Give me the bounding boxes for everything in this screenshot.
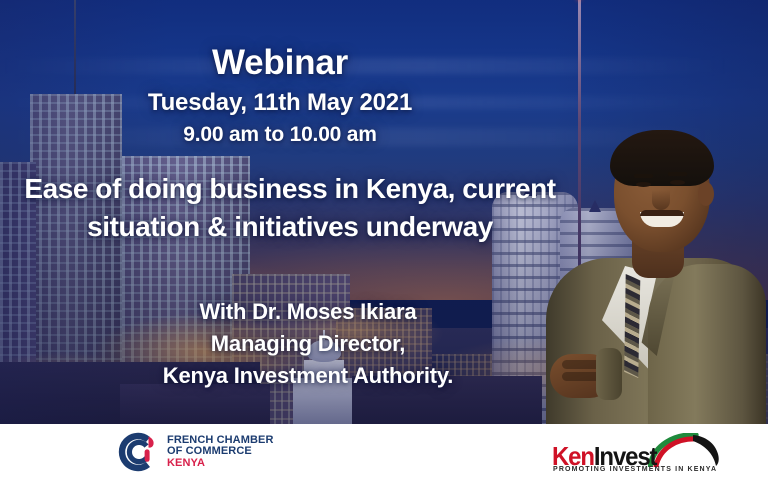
kenyan-flag-swoosh-icon bbox=[648, 433, 722, 467]
footer-bar: FRENCH CHAMBER OF COMMERCE KENYA KenInve… bbox=[0, 424, 768, 483]
webinar-poster: Webinar Tuesday, 11th May 2021 9.00 am t… bbox=[0, 0, 768, 483]
title-line-1: Ease of doing business in Kenya, current bbox=[2, 170, 578, 208]
speaker-photo bbox=[540, 108, 768, 424]
event-time: 9.00 am to 10.00 am bbox=[0, 121, 560, 149]
speaker-name: With Dr. Moses Ikiara bbox=[118, 296, 498, 328]
hair bbox=[610, 130, 714, 186]
ear bbox=[698, 182, 714, 206]
event-type: Webinar bbox=[0, 42, 560, 84]
keninvest-logo: KenInvest PROMOTING INVESTMENTS IN KENYA bbox=[552, 433, 722, 475]
title-line-2: situation & initiatives underway bbox=[2, 208, 578, 246]
eye bbox=[670, 180, 685, 185]
event-date: Tuesday, 11th May 2021 bbox=[0, 88, 560, 118]
nose bbox=[652, 190, 670, 210]
french-chamber-logo: FRENCH CHAMBER OF COMMERCE KENYA bbox=[118, 432, 274, 472]
french-chamber-wordmark: FRENCH CHAMBER OF COMMERCE KENYA bbox=[167, 435, 274, 470]
speaker-organization: Kenya Investment Authority. bbox=[118, 360, 498, 392]
speaker-role: Managing Director, bbox=[118, 328, 498, 360]
speaker-info-block: With Dr. Moses Ikiara Managing Director,… bbox=[118, 296, 498, 392]
cci-monogram-icon bbox=[118, 432, 158, 472]
upper-lip bbox=[640, 210, 684, 216]
eye bbox=[636, 182, 651, 187]
suit-cuff bbox=[596, 348, 622, 400]
page-title: Ease of doing business in Kenya, current… bbox=[2, 170, 578, 246]
fc-line-3: KENYA bbox=[167, 458, 274, 470]
eyebrow bbox=[668, 172, 687, 176]
keninvest-tagline: PROMOTING INVESTMENTS IN KENYA bbox=[553, 466, 717, 473]
eyebrow bbox=[634, 174, 653, 178]
header-text-block: Webinar Tuesday, 11th May 2021 9.00 am t… bbox=[0, 0, 560, 149]
